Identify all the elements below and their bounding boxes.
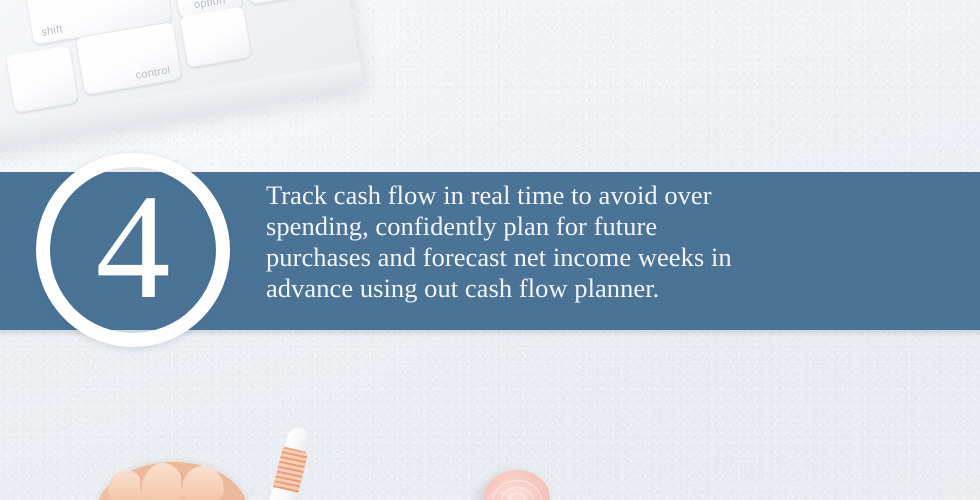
keyboard-filler-key-2 [180,6,252,68]
step-number: 4 [36,153,230,347]
banner-text-line-4: advance using out cash flow planner. [266,273,896,304]
hand-crease-1 [140,476,142,491]
banner-text-line-3: purchases and forecast net income weeks … [266,242,896,273]
banner-text-line-1: Track cash flow in real time to avoid ov… [266,180,896,211]
slide-canvas: caps lock Z shift alt option ⌘ command [0,0,980,500]
banner-text-line-2: spending, confidently plan for future [266,211,896,242]
blank-key [6,46,79,114]
hand-crease-2 [181,472,183,487]
banner-text-block: Track cash flow in real time to avoid ov… [266,180,896,304]
command-key: ⌘ command [241,0,334,5]
shift-key-label: shift [40,23,63,38]
control-key-label: control [135,64,172,82]
